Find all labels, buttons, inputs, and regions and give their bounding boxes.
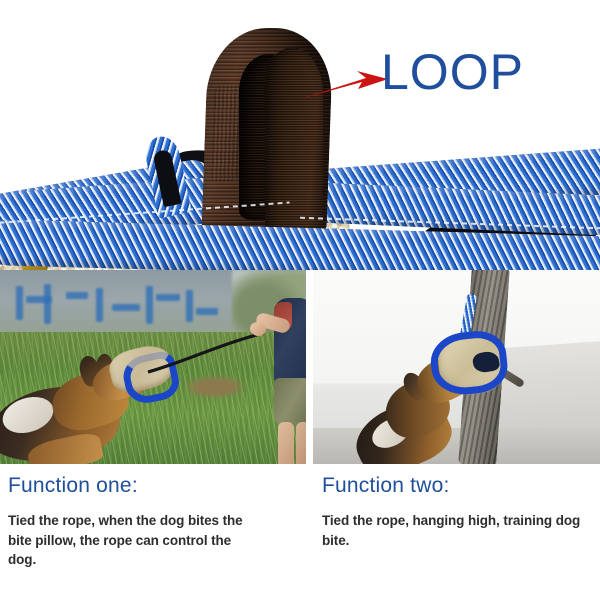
caption-body-function-two: Tied the rope, hanging high, training do…	[322, 511, 590, 550]
photo-function-two	[313, 270, 600, 464]
caption-title-function-two: Function two:	[322, 474, 594, 497]
function-photo-row	[0, 270, 600, 464]
product-infographic: LOOP	[0, 0, 600, 600]
hero-photo-loop-detail: LOOP	[0, 0, 600, 270]
loop-annotation-label: LOOP	[381, 47, 524, 97]
handler-shorts	[274, 378, 306, 426]
handler-leg-left	[278, 422, 294, 464]
dirt-patch	[186, 376, 244, 398]
captions-area: Function one: Tied the rope, when the do…	[0, 464, 600, 600]
handler-leg-right	[296, 422, 306, 464]
training-rope-leash	[146, 328, 270, 374]
caption-block-function-one: Function one: Tied the rope, when the do…	[8, 464, 304, 570]
caption-block-function-two: Function two: Tied the rope, hanging hig…	[322, 464, 594, 550]
handler-person	[258, 298, 306, 464]
caption-title-function-one: Function one:	[8, 474, 304, 497]
loop-woven-pattern	[211, 86, 240, 182]
photo-function-one	[0, 270, 306, 464]
caption-body-function-one: Tied the rope, when the dog bites the bi…	[8, 511, 254, 570]
